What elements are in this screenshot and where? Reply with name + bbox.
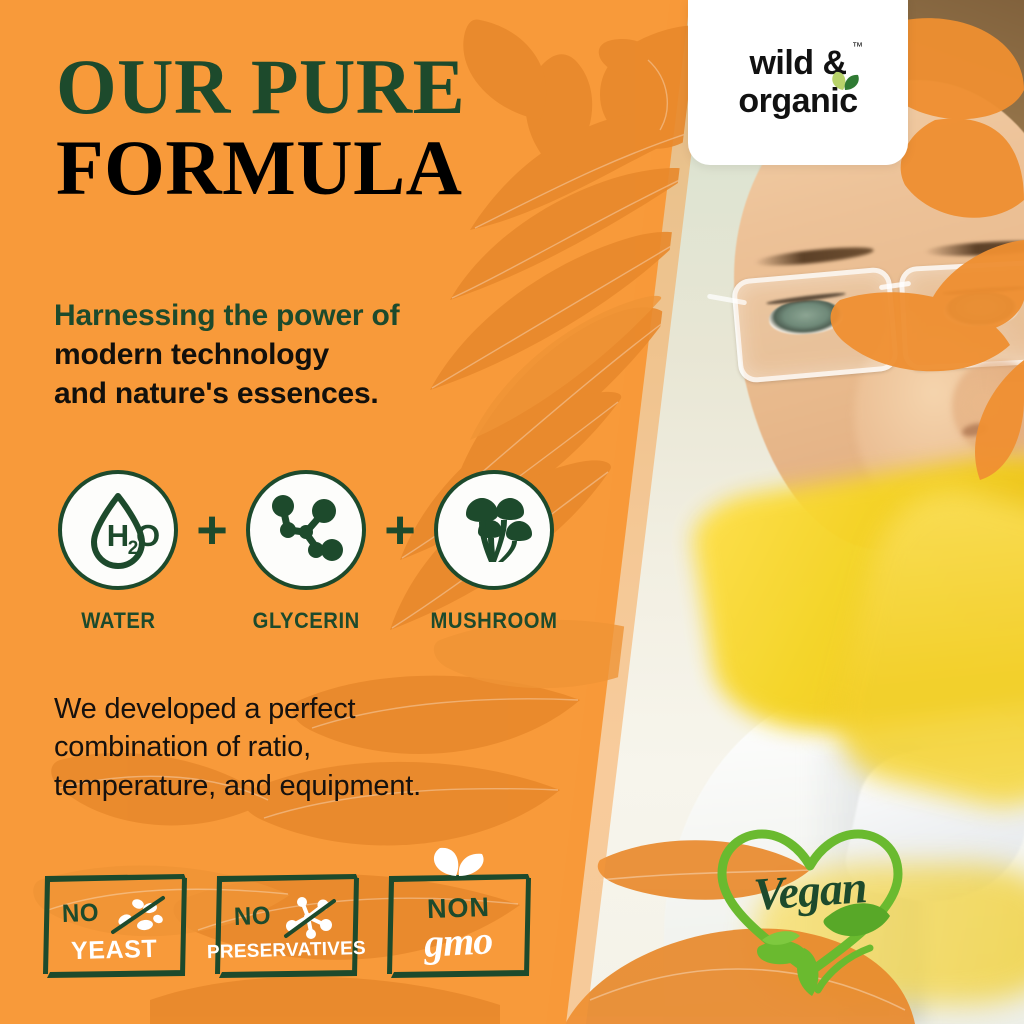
headline-line-1: OUR PURE [56,50,596,125]
badge-prefix-no: NO [61,898,99,929]
mushroom-cluster-icon [448,484,540,576]
badge-no-preservatives-content: NO [210,870,362,982]
ingredient-separator-1: + [184,470,240,590]
svg-text:O: O [136,518,160,553]
brand-logo-badge[interactable]: wild & ™ organic [688,0,908,165]
vegan-label: Vegan [728,858,891,922]
badge-word-preservatives: PRESERVATIVES [206,938,365,961]
ingredient-separator-2: + [372,470,428,590]
ingredient-glycerin: GLYCERIN [240,470,372,634]
intro-line-2: modern technology [54,335,554,374]
body-line-2: combination of ratio, [54,728,534,766]
photo-eyeglasses [729,255,1024,375]
ingredient-label-water: WATER [81,608,155,634]
page-title: OUR PURE FORMULA [56,50,596,206]
eyeglass-lens-right [898,259,1024,371]
body-paragraph: We developed a perfect combination of ra… [54,690,534,805]
mushroom-icon-circle [434,470,554,590]
water-droplet-h2o-icon: H 2 O [72,484,164,576]
intro-paragraph: Harnessing the power of modern technolog… [54,296,554,413]
badge-non-gmo-content: NON gmo [382,870,534,982]
logo-line-2-wrapper: organic [738,84,857,120]
ingredients-row: H 2 O WATER + [52,470,572,634]
body-line-3: temperature, and equipment. [54,767,534,805]
yeast-cells-crossed-icon [105,892,167,936]
water-icon-circle: H 2 O [58,470,178,590]
ingredient-water: H 2 O WATER [52,470,184,634]
badge-no-yeast-top: NO [62,890,167,938]
molecule-crossed-icon [277,894,339,940]
badge-no-preservatives-top: NO [234,893,339,941]
body-line-1: We developed a perfect [54,690,534,728]
badge-no-yeast: NO YEAST [38,870,190,982]
intro-line-3: and nature's essences. [54,374,554,413]
claim-badges: NO YEAST [38,870,534,982]
intro-line-1: Harnessing the power of [54,296,554,335]
badge-prefix-no: NO [233,901,271,932]
headline-line-2: FORMULA [56,131,596,206]
ingredient-label-mushroom: MUSHROOM [431,608,558,634]
molecule-icon [260,484,352,576]
vegan-seal: Vegan [700,820,920,1000]
trademark-symbol: ™ [852,42,863,53]
badge-no-yeast-content: NO YEAST [38,870,190,982]
glycerin-icon-circle [246,470,366,590]
badge-word-yeast: YEAST [71,936,158,963]
poster-root: OUR PURE FORMULA Harnessing the power of… [0,0,1024,1024]
svg-text:H: H [107,518,129,553]
logo-leaves-icon [828,70,862,92]
eyeglass-lens-left [731,266,899,384]
badge-non-gmo: NON gmo [382,870,534,982]
ingredient-label-glycerin: GLYCERIN [252,608,359,634]
ingredient-mushroom: MUSHROOM [428,470,560,634]
badge-no-preservatives: NO [210,870,362,982]
badge-word-gmo: gmo [423,922,493,962]
